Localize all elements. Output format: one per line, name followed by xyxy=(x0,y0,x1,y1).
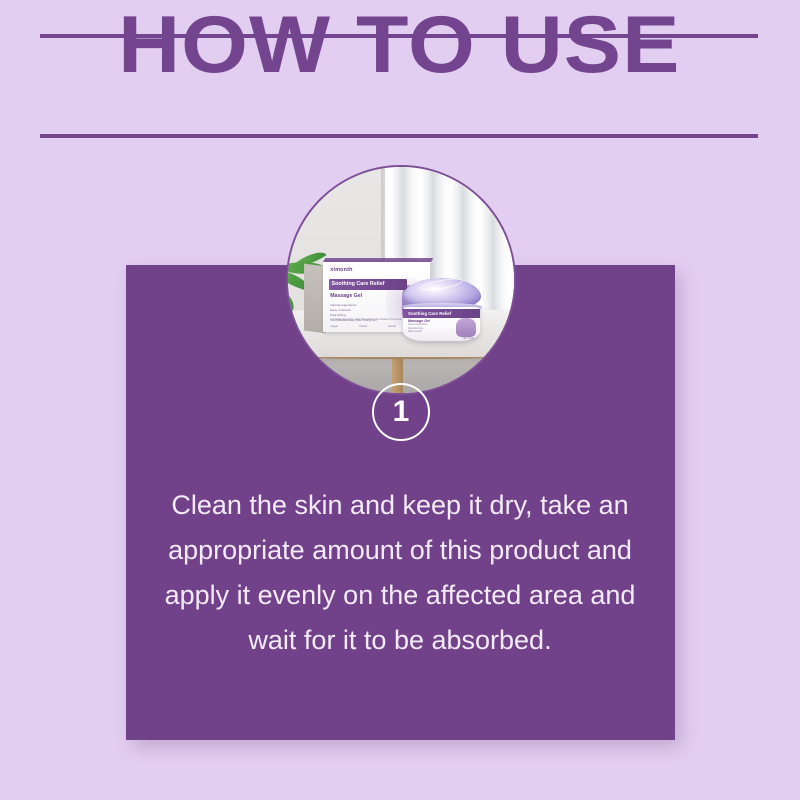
header: HOW TO USE xyxy=(40,34,758,138)
jar-net-weight: NET 60ml xyxy=(463,337,474,340)
header-rule-bottom xyxy=(40,134,758,138)
product-photo-circle: ximonth Soothing Care Relief Massage Gel… xyxy=(286,165,516,395)
jar-band-text: Soothing Care Relief xyxy=(408,311,451,316)
product-photo: ximonth Soothing Care Relief Massage Gel… xyxy=(288,167,514,393)
carton-icon-label: Herbal xyxy=(388,324,396,328)
jar-body: ximonth Soothing Care Relief Massage Gel… xyxy=(403,307,479,341)
jar-detail-lines: Natural Ingredients Fast Absorbing Daily… xyxy=(408,324,427,335)
page-title: HOW TO USE xyxy=(40,45,758,127)
jar-detail-line: Daily Comfort xyxy=(408,331,427,335)
knee-graphic-icon xyxy=(456,318,476,337)
carton-band: Soothing Care Relief xyxy=(329,279,406,290)
step-number-badge: 1 xyxy=(372,383,430,441)
step-description: Clean the skin and keep it dry, take an … xyxy=(150,483,650,663)
carton-brand: ximonth xyxy=(330,267,352,273)
carton-band-text: Soothing Care Relief xyxy=(332,281,385,287)
how-to-use-poster: HOW TO USE Clean the skin and keep it dr… xyxy=(0,0,800,800)
carton-subtitle: Massage Gel xyxy=(330,293,362,299)
jar-subtitle: Massage Gel xyxy=(408,319,430,323)
carton-footnote: For Daily Care Dry Joint Discomfort and … xyxy=(330,317,401,321)
page-title-text: HOW TO USE xyxy=(118,4,680,86)
product-jar: ximonth Soothing Care Relief Massage Gel… xyxy=(401,278,482,344)
carton-icon-label: Vegan xyxy=(330,324,338,328)
jar-gel-swirl xyxy=(419,277,462,293)
carton-icon-label: Tested xyxy=(359,324,367,328)
